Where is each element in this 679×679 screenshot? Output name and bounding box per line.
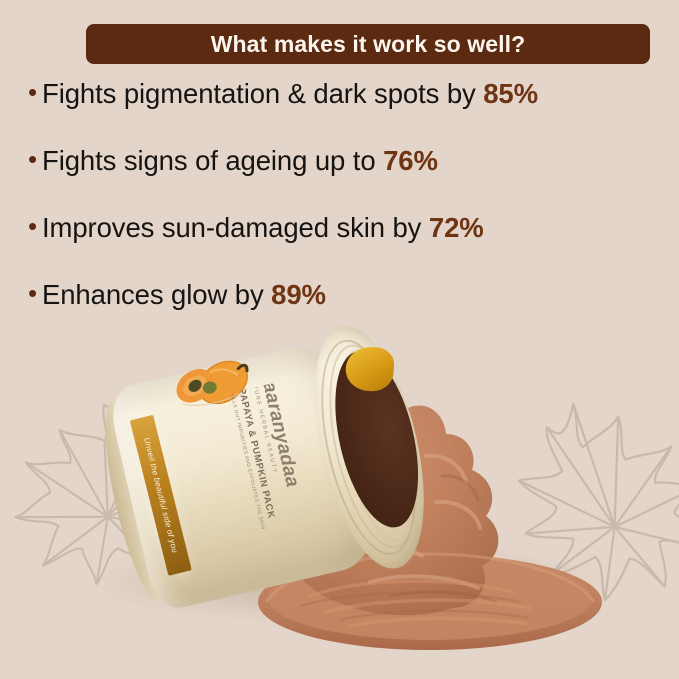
list-item: • Improves sun-damaged skin by 72% [28, 212, 658, 279]
bullet-dot-icon: • [28, 280, 42, 306]
bullet-dot-icon: • [28, 213, 42, 239]
bullet-dot-icon: • [28, 79, 42, 105]
bullet-dot-icon: • [28, 146, 42, 172]
benefit-text: Enhances glow by 89% [42, 279, 326, 311]
list-item: • Enhances glow by 89% [28, 279, 658, 346]
product-image: aaranyadaa PURE HERBAL BEAUTY PAPAYA & P… [0, 330, 679, 679]
benefit-percentage: 89% [271, 279, 326, 310]
benefit-percentage: 85% [483, 78, 538, 109]
header-banner: What makes it work so well? [86, 24, 650, 64]
benefit-text: Improves sun-damaged skin by 72% [42, 212, 484, 244]
benefit-text: Fights pigmentation & dark spots by 85% [42, 78, 538, 110]
list-item: • Fights signs of ageing up to 76% [28, 145, 658, 212]
page-title: What makes it work so well? [211, 31, 526, 58]
benefit-text: Fights signs of ageing up to 76% [42, 145, 438, 177]
benefit-percentage: 76% [383, 145, 438, 176]
list-item: • Fights pigmentation & dark spots by 85… [28, 78, 658, 145]
benefit-percentage: 72% [429, 212, 484, 243]
benefits-list: • Fights pigmentation & dark spots by 85… [28, 78, 658, 346]
